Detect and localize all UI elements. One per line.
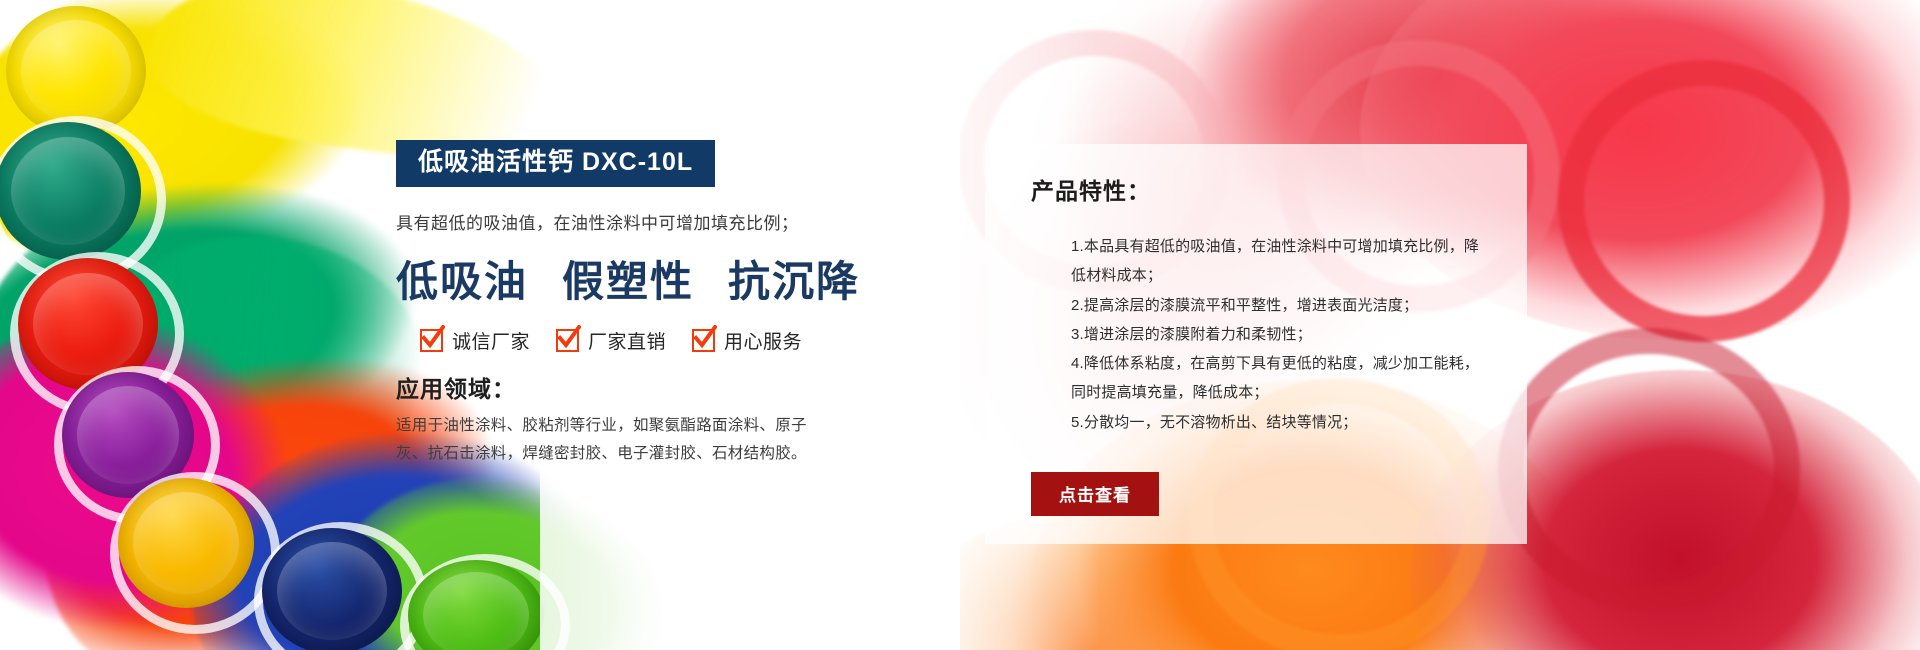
feature-list-item: 2.提高涂层的漆膜流平和平整性，增进表面光洁度； bbox=[1071, 291, 1491, 320]
left-content-block: 低吸油活性钙 DXC-10L 具有超低的吸油值，在油性涂料中可增加填充比例； 低… bbox=[396, 140, 956, 469]
headline-word-2: 假塑性 bbox=[562, 258, 694, 305]
background-artwork bbox=[0, 0, 1920, 650]
paint-pot-amber bbox=[118, 478, 254, 608]
feature-item-3: 用心服务 bbox=[692, 327, 802, 354]
headline-word-1: 低吸油 bbox=[396, 258, 528, 305]
feature-list: 诚信厂家 厂家直销 用心服务 bbox=[420, 327, 956, 354]
feature-label-3: 用心服务 bbox=[724, 327, 802, 354]
checkbox-checked-icon bbox=[420, 329, 443, 352]
view-details-button[interactable]: 点击查看 bbox=[1031, 472, 1159, 516]
feature-list-item: 4.降低体系粘度，在高剪下具有更低的粘度，减少加工能耗，同时提高填充量，降低成本… bbox=[1071, 349, 1491, 408]
headline: 低吸油假塑性抗沉降 bbox=[396, 248, 956, 309]
feature-label-2: 厂家直销 bbox=[588, 327, 666, 354]
product-banner: 低吸油活性钙 DXC-10L 具有超低的吸油值，在油性涂料中可增加填充比例； 低… bbox=[0, 0, 1920, 650]
paint-ring-a bbox=[1558, 60, 1850, 342]
paint-pot-green bbox=[0, 122, 141, 260]
paint-pot-navy bbox=[262, 528, 402, 650]
checkbox-checked-icon bbox=[556, 329, 579, 352]
feature-item-2: 厂家直销 bbox=[556, 327, 666, 354]
checkbox-checked-icon bbox=[692, 329, 715, 352]
paint-ring-c bbox=[1498, 328, 1800, 610]
feature-list-item: 5.分散均一，无不溶物析出、结块等情况； bbox=[1071, 408, 1491, 437]
application-section-title: 应用领域： bbox=[396, 370, 956, 404]
feature-label-1: 诚信厂家 bbox=[452, 327, 530, 354]
features-list: 1.本品具有超低的吸油值，在油性涂料中可增加填充比例，降低材料成本；2.提高涂层… bbox=[1031, 232, 1491, 437]
product-subtitle: 具有超低的吸油值，在油性涂料中可增加填充比例； bbox=[396, 209, 956, 234]
product-title-bar: 低吸油活性钙 DXC-10L bbox=[396, 140, 715, 187]
product-features-panel: 产品特性： 1.本品具有超低的吸油值，在油性涂料中可增加填充比例，降低材料成本；… bbox=[985, 144, 1527, 544]
features-panel-title: 产品特性： bbox=[1031, 172, 1491, 206]
feature-item-1: 诚信厂家 bbox=[420, 327, 530, 354]
feature-list-item: 1.本品具有超低的吸油值，在油性涂料中可增加填充比例，降低材料成本； bbox=[1071, 232, 1491, 291]
application-section-body: 适用于油性涂料、胶粘剂等行业，如聚氨酯路面涂料、原子灰、抗石击涂料，焊缝密封胶、… bbox=[396, 412, 816, 469]
headline-word-3: 抗沉降 bbox=[728, 258, 860, 305]
feature-list-item: 3.增进涂层的漆膜附着力和柔韧性； bbox=[1071, 320, 1491, 349]
